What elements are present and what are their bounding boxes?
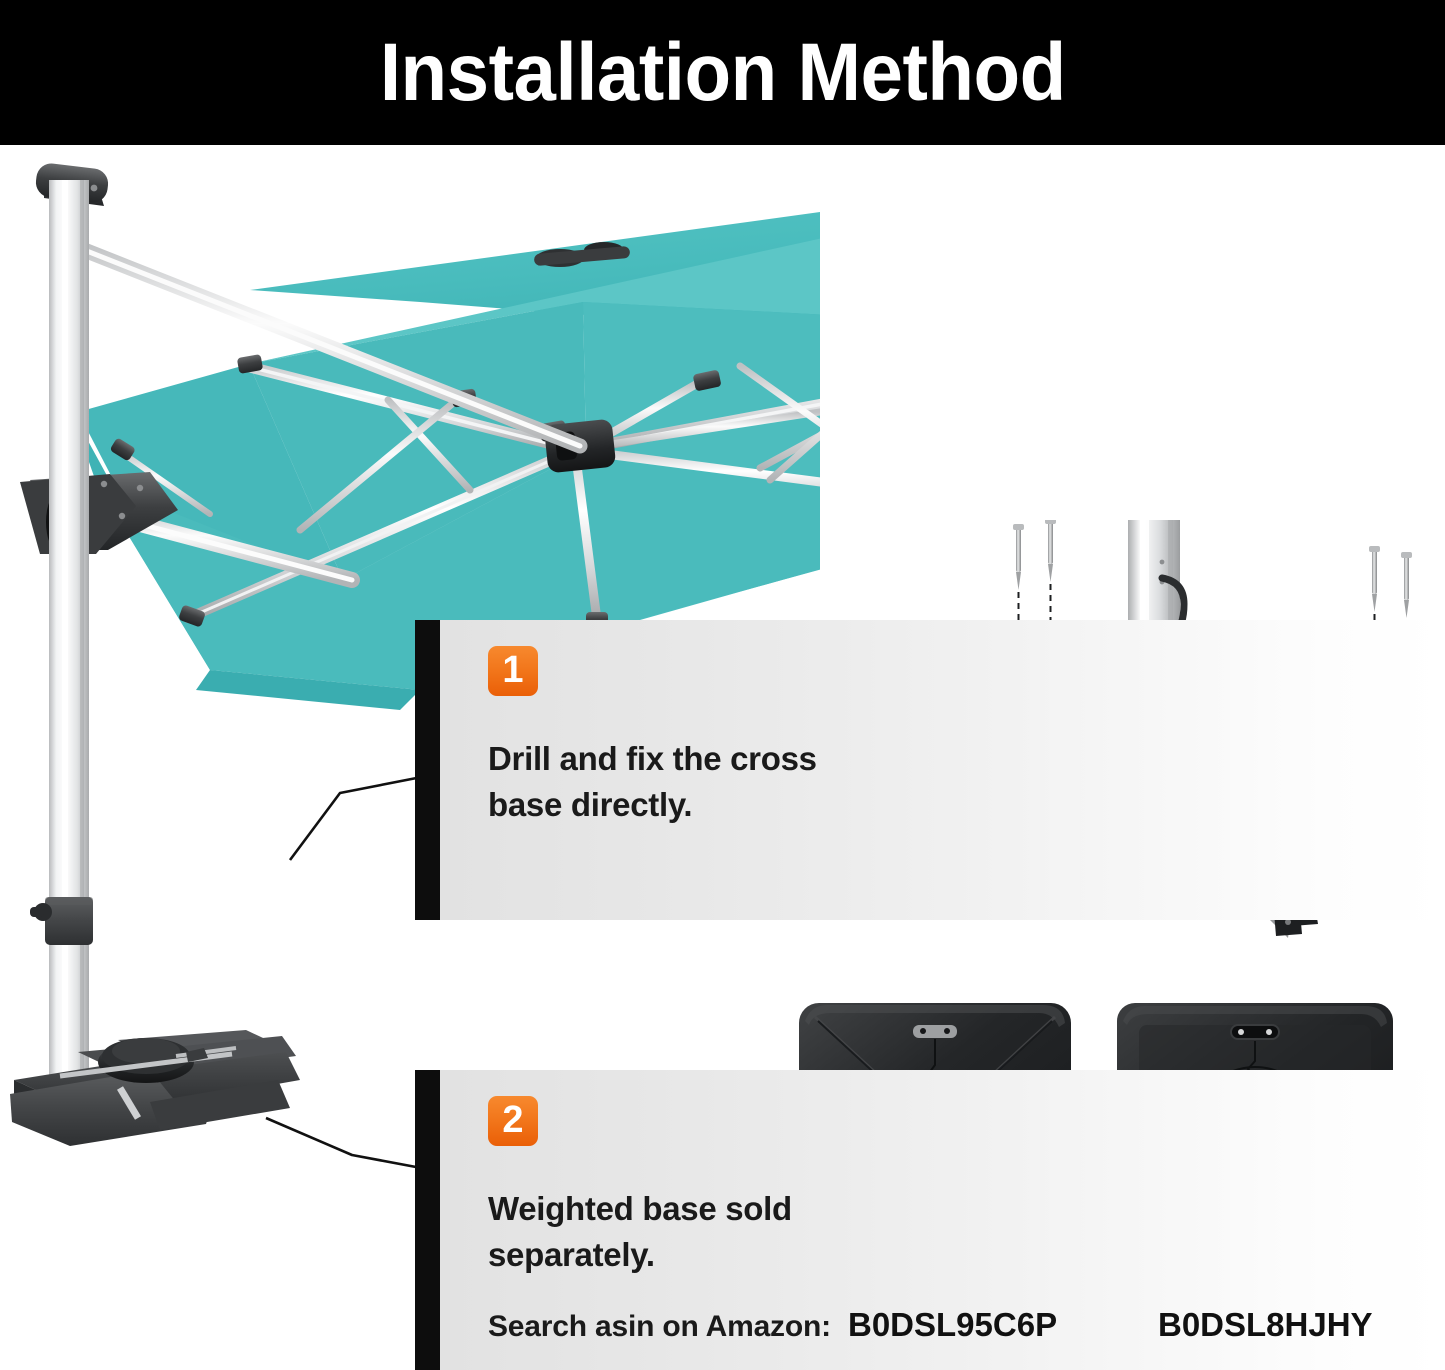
step-2-callout: 2 Weighted base sold separately. Search … xyxy=(415,1070,1445,1370)
asin-label: Search asin on Amazon: xyxy=(488,1310,848,1344)
pole-adjust-collar xyxy=(30,897,93,945)
umbrella-pole xyxy=(30,180,93,1080)
page-title: Installation Method xyxy=(380,32,1066,114)
step-1-accent-bar xyxy=(415,620,440,920)
infographic-page: Installation Method xyxy=(0,0,1445,1370)
step-1-text: Drill and fix the cross base directly. xyxy=(488,736,888,827)
step-2-text: Weighted base sold separately. xyxy=(488,1186,888,1277)
latch xyxy=(913,1025,957,1038)
asin-row: Search asin on Amazon: B0DSL95C6P B0DSL8… xyxy=(488,1306,1445,1344)
step-2-accent-bar xyxy=(415,1070,440,1370)
step-2-badge: 2 xyxy=(488,1096,538,1146)
header-band: Installation Method xyxy=(0,0,1445,145)
step-1-body: 1 Drill and fix the cross base directly. xyxy=(440,620,1445,920)
step-2-body: 2 Weighted base sold separately. Search … xyxy=(440,1070,1445,1370)
step-1-badge: 1 xyxy=(488,646,538,696)
step-1-callout: 1 Drill and fix the cross base directly. xyxy=(415,620,1445,920)
asin-code-1: B0DSL95C6P xyxy=(848,1306,1148,1344)
asin-code-2: B0DSL8HJHY xyxy=(1158,1306,1445,1344)
latch xyxy=(1231,1025,1279,1039)
